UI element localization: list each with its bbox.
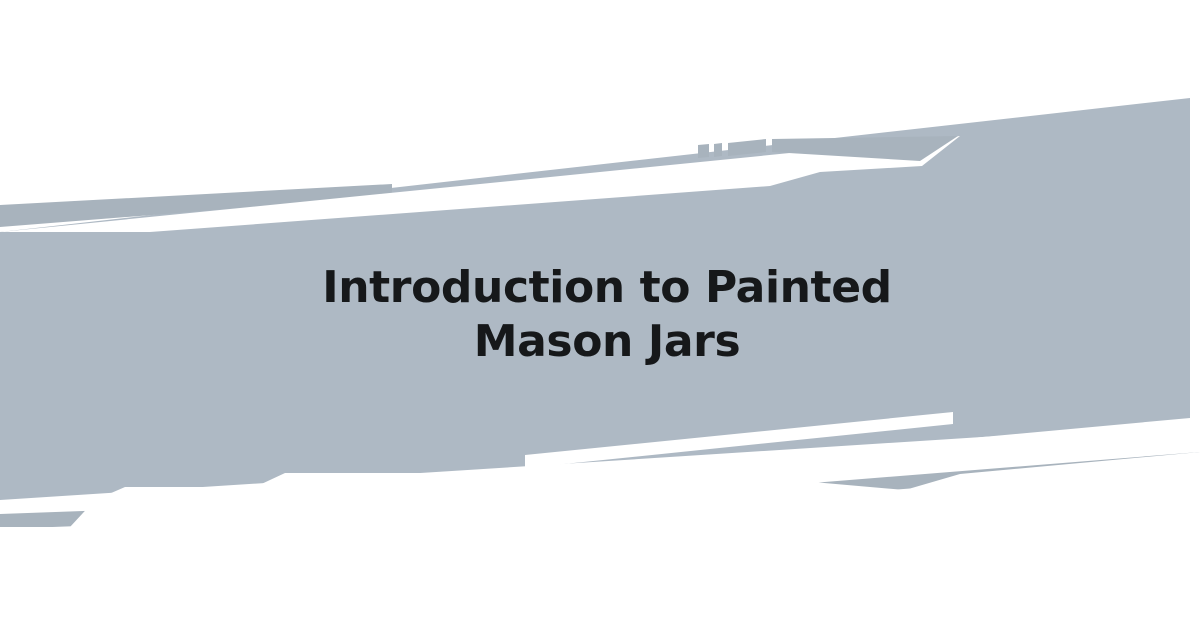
top-dash-2 <box>714 143 722 157</box>
top-dash-1 <box>698 144 709 158</box>
banner-decorative-artwork <box>0 0 1200 630</box>
banner-card: Introduction to Painted Mason Jars <box>0 0 1200 630</box>
